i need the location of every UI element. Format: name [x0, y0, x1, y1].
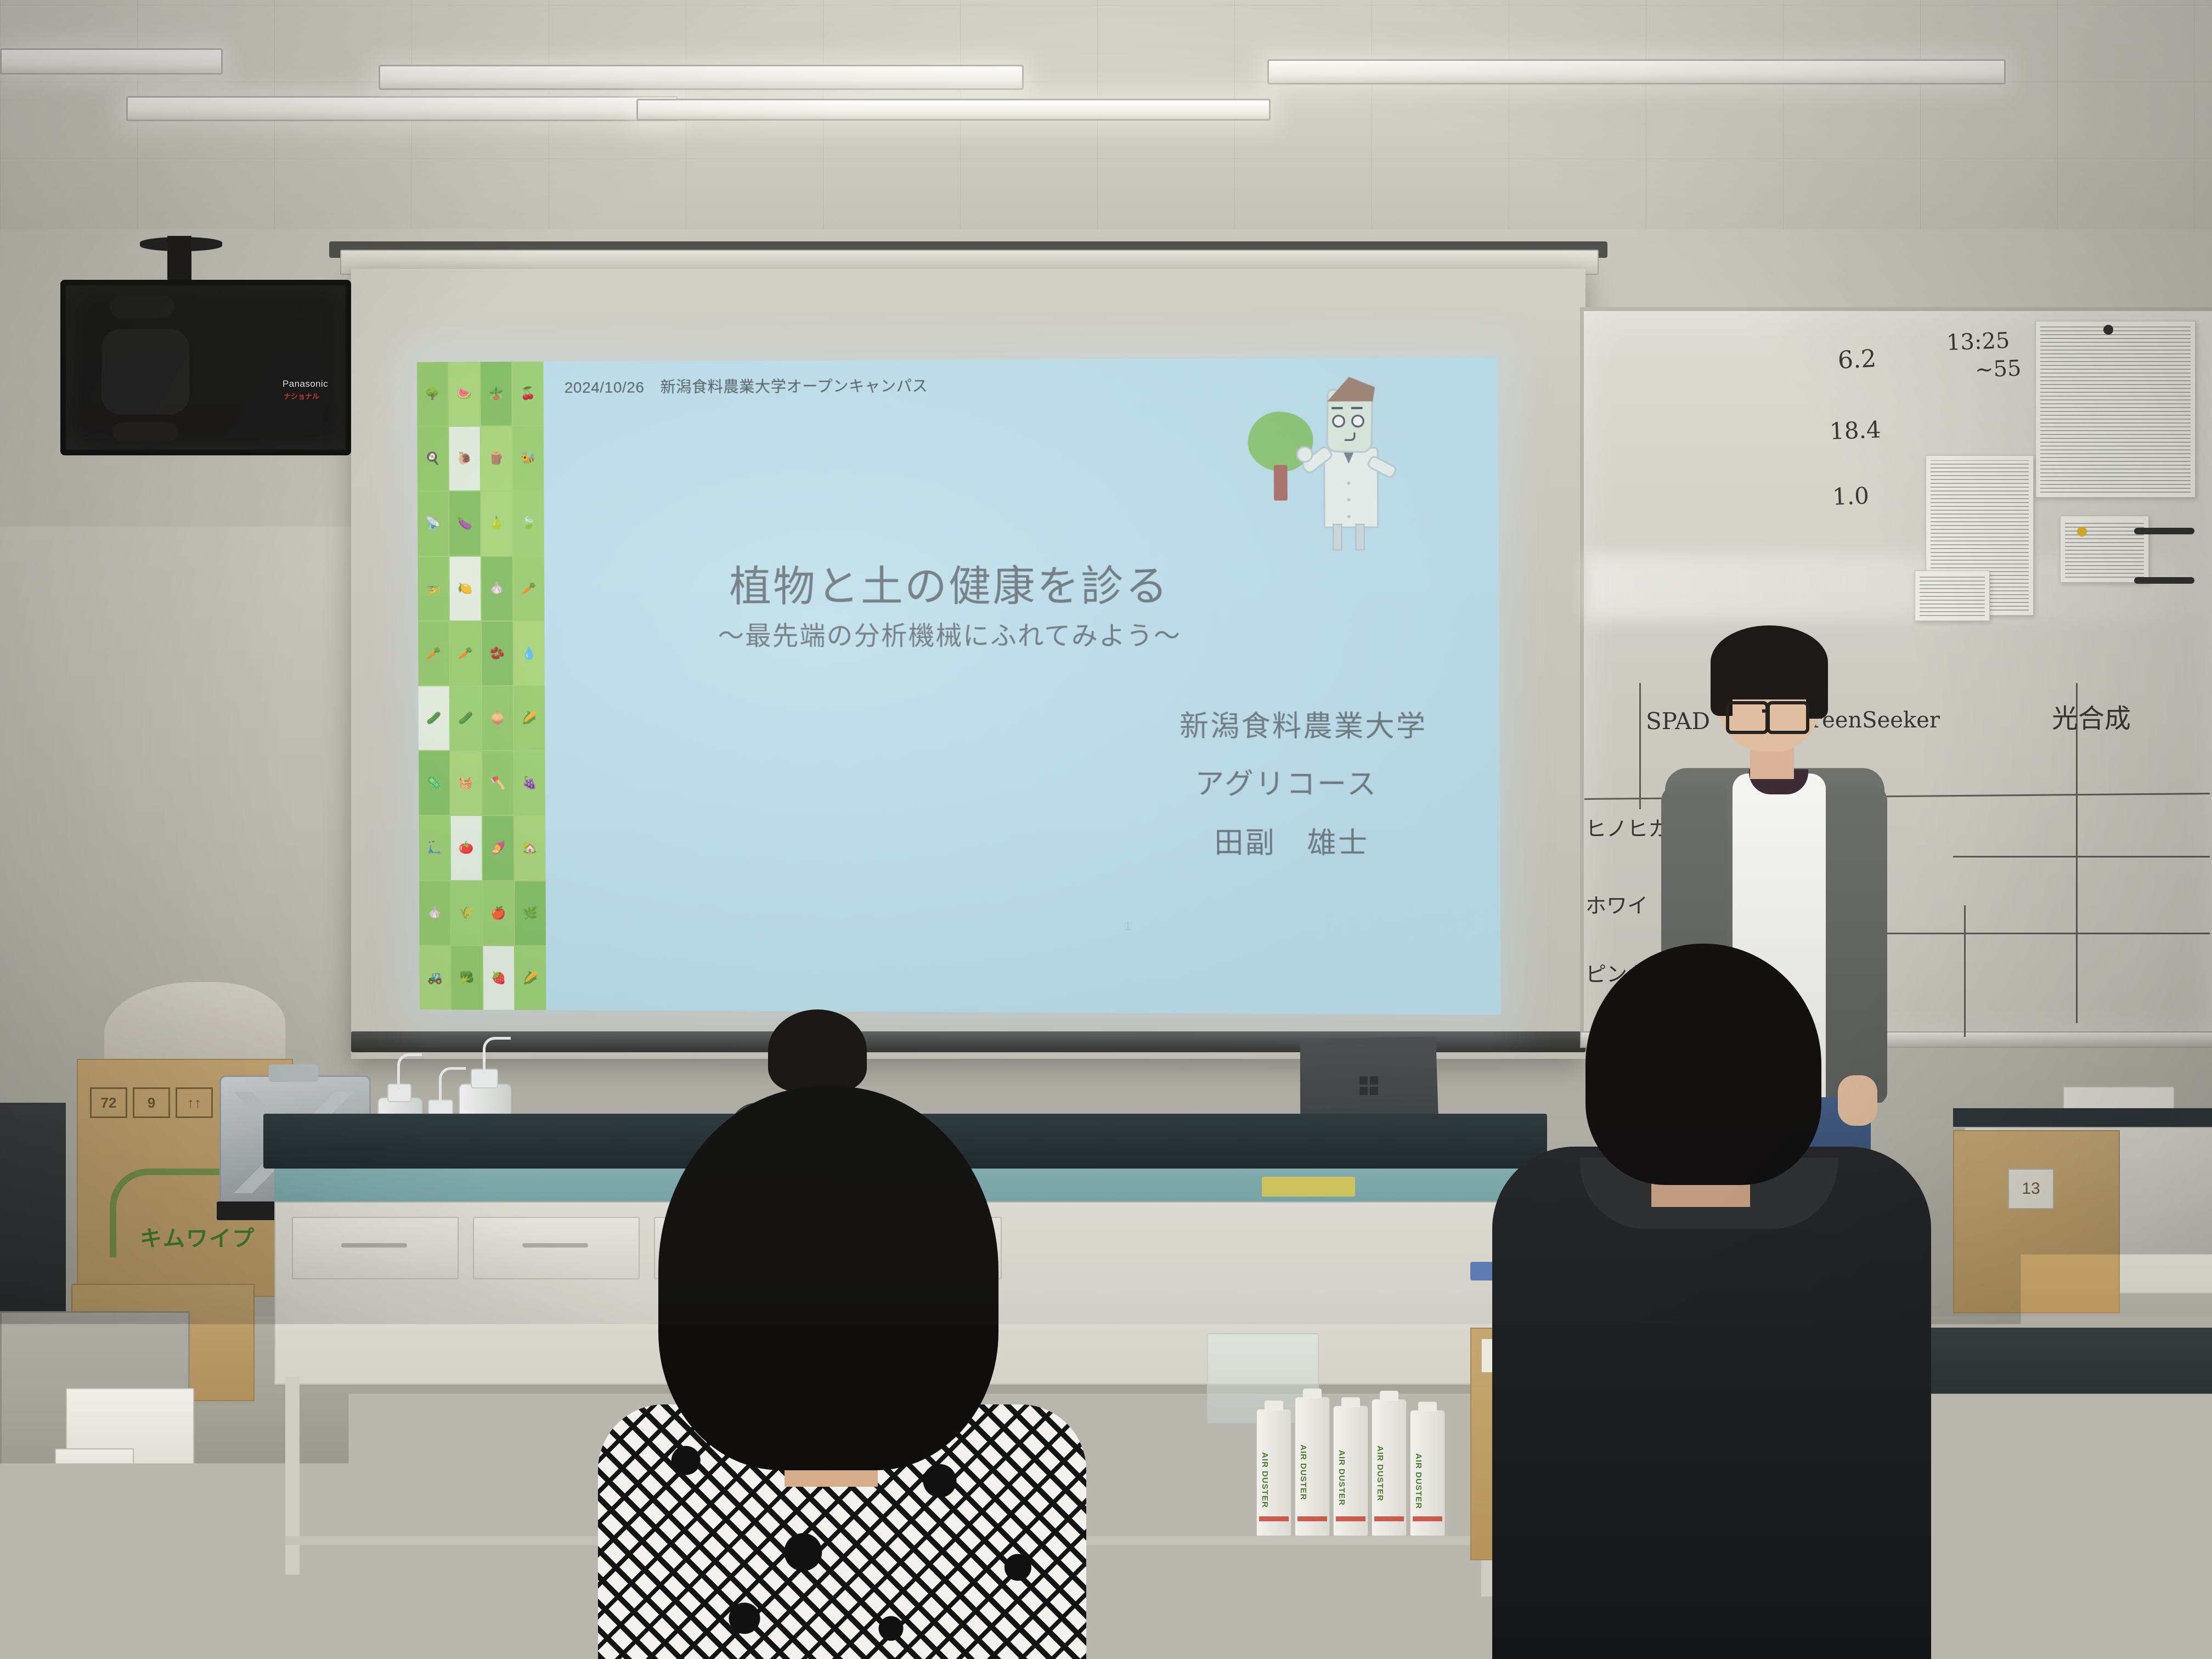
potted-plant-tile: 🪴	[481, 362, 512, 426]
whiteboard-table-vline-1	[1639, 683, 1641, 809]
student-center-hair	[658, 1086, 998, 1470]
coat-button-icon	[1347, 498, 1351, 501]
wash-bottle-tube-1	[397, 1053, 422, 1089]
coat-button-icon	[1347, 515, 1351, 518]
whiteboard-time-end: ~55	[1974, 356, 2022, 383]
right-box-number-label: 13	[2008, 1169, 2054, 1209]
speaker-bass-port	[112, 422, 178, 441]
slide-mosaic-strip: 🌳🍉🪴🍒🍳🐌🪵🐝📡🍆🍐🍃🚁🍋🧄🥕🥕🥕🫘💧🥒🥒🧅🌽🦠🧺🪓🍇🛴🍅🍠🏡🧄🌾🍎🌿🚜🥦🍓🌽	[417, 362, 546, 1010]
whiteboard-value-3: 1.0	[1832, 482, 1869, 510]
harvest-basket-tile: 🧺	[450, 751, 482, 815]
bench-drawer-handle-2[interactable]	[522, 1243, 588, 1248]
presenter-arm-right	[1826, 785, 1887, 1103]
wheat-tile: 🌾	[451, 881, 482, 945]
air-duster-can: AIR DUSTER	[1295, 1397, 1330, 1536]
scientist-left-leg	[1333, 524, 1342, 551]
ceiling-light-3	[379, 65, 1024, 90]
air-duster-can: AIR DUSTER	[1256, 1409, 1291, 1536]
ceiling-light-4	[1267, 59, 2006, 84]
right-bench-edge	[1953, 1108, 2212, 1127]
presenter-sideburn-right	[1806, 667, 1828, 719]
scientist-mouth	[1345, 432, 1356, 441]
ceiling-light-1	[0, 48, 223, 75]
farm-house-tile: 🏡	[515, 816, 546, 881]
can-warning-band	[1413, 1516, 1442, 1521]
snail-tile: 🐌	[449, 427, 481, 490]
microbe-tile: 🦠	[419, 751, 450, 815]
box-mark-this-side-up: ↑↑	[176, 1087, 213, 1118]
whiteboard-column-photosynthesis: 光合成	[2052, 697, 2131, 735]
box-mark-9: 9	[133, 1087, 170, 1118]
student-right-hair	[1585, 944, 1821, 1185]
garlic-tile: 🧄	[482, 556, 513, 620]
drone-tile: 🚁	[418, 557, 449, 620]
watermelon-tile: 🍉	[449, 362, 480, 426]
whiteboard-table-vline-3	[1964, 905, 1966, 1037]
posted-document-schedule	[2035, 321, 2196, 498]
magnet-yellow-icon	[2077, 527, 2087, 537]
scientist-left-hand	[1296, 446, 1313, 462]
projected-slide: 🌳🍉🪴🍒🍳🐌🪵🐝📡🍆🍐🍃🚁🍋🧄🥕🥕🥕🫘💧🥒🥒🧅🌽🦠🧺🪓🍇🛴🍅🍠🏡🧄🌾🍎🌿🚜🥦🍓🌽…	[417, 357, 1501, 1015]
posted-document-notice	[2060, 516, 2149, 583]
magnet-black-icon	[2103, 325, 2113, 335]
zucchini-tile: 🥒	[419, 686, 450, 750]
can-label: AIR DUSTER	[1299, 1444, 1308, 1500]
front-chair-backpack	[33, 1514, 505, 1659]
berries-tile: 🍒	[512, 362, 544, 426]
coat-button-icon	[1347, 482, 1350, 485]
air-duster-can: AIR DUSTER	[1333, 1406, 1368, 1536]
pipette-tile: 💧	[513, 622, 545, 685]
student-left-hair	[768, 1009, 867, 1092]
whiteboard-value-1: 6.2	[1837, 345, 1877, 375]
turnip-tile: 🧅	[482, 686, 513, 750]
presenter-glasses-right-lens	[1767, 701, 1809, 734]
ceiling-light-2	[126, 96, 678, 121]
slide-presenter-name: 田副 雄士	[1214, 819, 1369, 861]
shovel-tile: 🪓	[482, 751, 513, 815]
oak-leaf-tile: 🍃	[513, 492, 544, 556]
box-brand-kimwipe: キムワイプ	[140, 1221, 255, 1252]
scientist-right-leg	[1355, 524, 1365, 551]
slide-affiliation-university: 新潟食料農業大学	[1180, 703, 1427, 744]
grapes-tile: 🍇	[514, 751, 545, 815]
egg-flower-tile: 🍳	[417, 427, 449, 490]
carrot-row-tile-2: 🥕	[418, 622, 449, 685]
scientist-eye-left	[1332, 415, 1345, 427]
slide-subtitle: ～最先端の分析機械にふれてみよう～	[555, 614, 1346, 652]
right-cardboard-box	[1953, 1130, 2120, 1313]
can-label: AIR DUSTER	[1337, 1450, 1346, 1506]
strawberry-tile: 🍓	[483, 946, 515, 1010]
classroom-photo-scene: Panasonic ナショナル 🌳🍉🪴🍒🍳🐌🪵🐝📡🍆🍐🍃🚁🍋🧄🥕🥕🥕🫘💧🥒🥒🧅🌽…	[0, 0, 2212, 1659]
air-duster-can: AIR DUSTER	[1410, 1410, 1445, 1536]
air-duster-can: AIR DUSTER	[1372, 1399, 1407, 1536]
can-warning-band	[1259, 1516, 1289, 1521]
broccoli-tile: 🥦	[452, 946, 483, 1010]
apple-tile: 🍎	[483, 881, 514, 945]
carrot-row-tile-3: 🥕	[450, 622, 481, 685]
magnet-bar-icon	[2134, 577, 2194, 584]
bench-drawer-2[interactable]	[473, 1217, 640, 1279]
speaker-brand-sub-label: ナショナル	[284, 391, 319, 401]
presenter-glasses-left-lens	[1726, 701, 1769, 734]
slide-affiliation-course: アグリコース	[1195, 760, 1378, 803]
slide-title: 植物と土の健康を診る	[555, 551, 1346, 613]
wash-bottle-tube-3	[483, 1037, 511, 1075]
presenter-glasses-bridge	[1762, 709, 1769, 713]
corn-tile: 🌽	[514, 686, 545, 750]
wheelbarrow-tile: 🛴	[419, 816, 450, 879]
jerrycan-cap	[269, 1064, 318, 1082]
presenter-hand	[1838, 1075, 1877, 1126]
yellow-notepad[interactable]	[1262, 1177, 1355, 1197]
whiteboard-table-hline-2	[1953, 856, 2210, 857]
posted-document-small	[1915, 571, 1990, 621]
speaker-tweeter	[110, 295, 174, 318]
speaker-mount-arm	[167, 236, 191, 283]
wifi-sensor-tile: 📡	[417, 492, 449, 555]
tomato-tile: 🍅	[451, 816, 482, 880]
slide-page-number: 1	[1124, 919, 1131, 933]
can-label: AIR DUSTER	[1414, 1453, 1423, 1509]
beet-tile: 🧄	[419, 881, 450, 945]
can-warning-band	[1336, 1516, 1365, 1521]
whiteboard-time-start: 13:25	[1946, 328, 2010, 356]
citrus-slice-tile: 🍋	[450, 556, 481, 620]
windows-logo-icon	[1359, 1076, 1378, 1095]
left-dark-cabinet	[0, 1103, 66, 1317]
tree-tile: 🌳	[417, 362, 448, 426]
scientist-eye-right	[1351, 415, 1364, 427]
pear-tile: 🍐	[481, 492, 512, 555]
can-warning-band	[1374, 1516, 1404, 1521]
box-mark-72: 72	[90, 1087, 127, 1118]
scientist-eyebrow-right	[1351, 407, 1363, 409]
field-tile: 🌿	[515, 881, 546, 945]
right-lower-bench	[1887, 1328, 2212, 1470]
corn-cob-tile: 🌽	[515, 946, 546, 1011]
front-left-white-box-2	[55, 1448, 134, 1522]
whiteboard-value-2: 18.4	[1829, 416, 1881, 444]
scientist-illustration	[1244, 363, 1431, 547]
can-label: AIR DUSTER	[1375, 1446, 1385, 1502]
bee-tile: 🐝	[513, 426, 544, 490]
can-label: AIR DUSTER	[1260, 1452, 1269, 1508]
can-warning-band	[1297, 1516, 1327, 1521]
whiteboard-column-spad: SPAD	[1646, 708, 1710, 735]
tree-trunk-icon	[1274, 465, 1288, 501]
speaker-cone-icon	[101, 329, 189, 414]
eggplant-tile: 🍆	[449, 492, 481, 555]
speaker-brand-label: Panasonic	[283, 379, 328, 390]
air-duster-can-group: AIR DUSTER AIR DUSTER AIR DUSTER AIR DUS…	[1256, 1372, 1487, 1536]
fence-tile: 🪵	[481, 427, 512, 491]
peapod-tile: 🫘	[482, 622, 513, 685]
sweet-potato-tile: 🍠	[483, 816, 514, 880]
cucumber-slice-tile: 🥒	[450, 686, 482, 750]
magnet-bar-icon	[2134, 528, 2194, 534]
tractor-tile: 🚜	[420, 946, 451, 1009]
scientist-eyebrow-left	[1331, 407, 1343, 409]
whiteboard-row-white: ホワイ	[1585, 889, 1648, 919]
bench-drawer-1[interactable]	[292, 1217, 459, 1279]
bench-drawer-handle-1[interactable]	[341, 1243, 407, 1248]
ceiling-light-5	[636, 99, 1271, 121]
carrot-row-tile: 🥕	[513, 556, 545, 620]
slide-header-text: 2024/10/26 新潟食料農業大学オープンキャンパス	[565, 374, 928, 398]
